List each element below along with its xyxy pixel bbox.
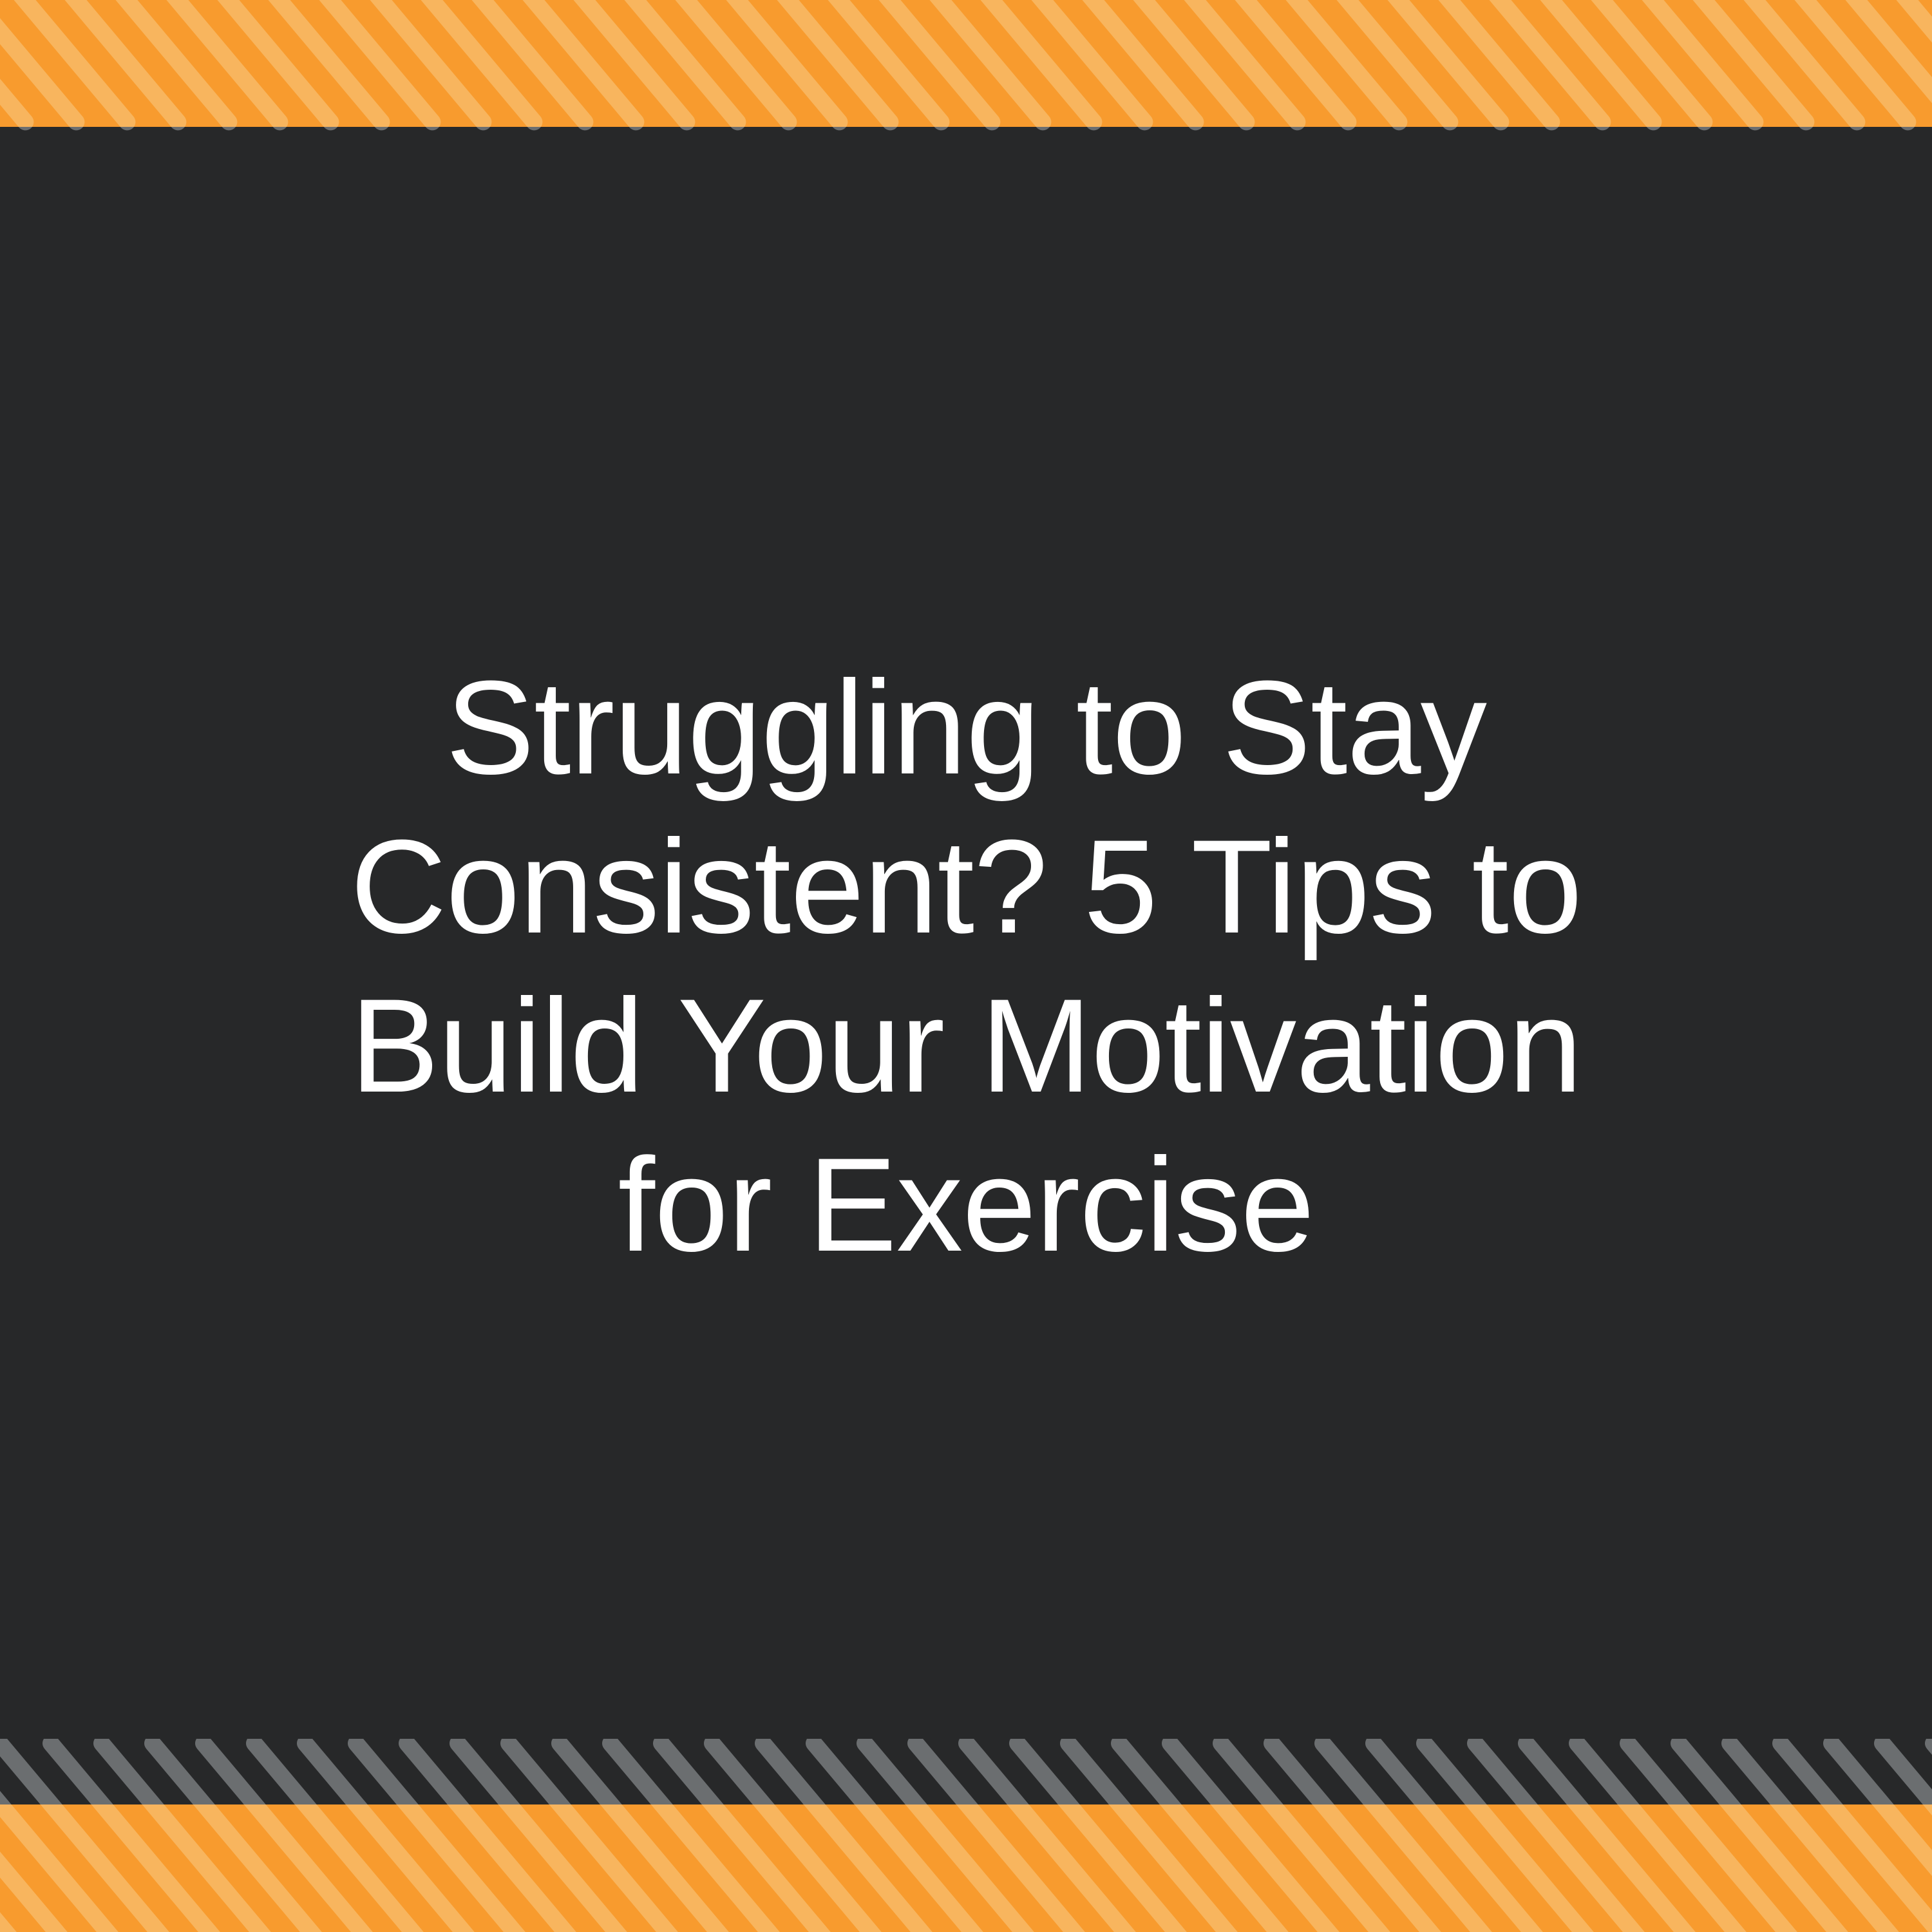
page-title: Struggling to Stay Consistent? 5 Tips to… [219,648,1713,1284]
headline-container: Struggling to Stay Consistent? 5 Tips to… [0,0,1932,1932]
social-post-card: Struggling to Stay Consistent? 5 Tips to… [0,0,1932,1932]
